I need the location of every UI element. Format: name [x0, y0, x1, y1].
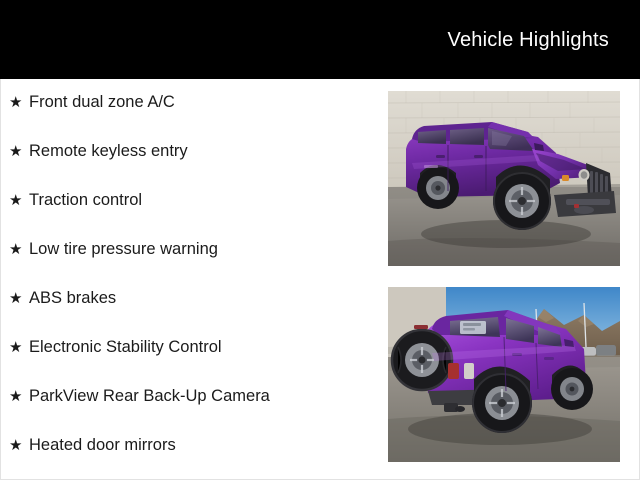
vehicle-photo-front-three-quarter[interactable]: [388, 91, 620, 266]
vehicle-highlights-page: Vehicle Highlights ★ Front dual zone A/C…: [0, 0, 640, 480]
feature-label: Front dual zone A/C: [29, 91, 175, 113]
feature-label: ABS brakes: [29, 287, 116, 309]
feature-label: Electronic Stability Control: [29, 336, 222, 358]
star-icon: ★: [9, 337, 29, 359]
star-icon: ★: [9, 190, 29, 212]
list-item: ★ Heated door mirrors: [9, 434, 369, 483]
feature-list: ★ Front dual zone A/C ★ Remote keyless e…: [9, 91, 369, 483]
star-icon: ★: [9, 92, 29, 114]
vehicle-photo-rear-three-quarter[interactable]: [388, 287, 620, 462]
list-item: ★ Traction control: [9, 189, 369, 238]
vehicle-photo-front-illustration: [388, 91, 620, 266]
feature-label: Heated door mirrors: [29, 434, 176, 456]
content-panel: ★ Front dual zone A/C ★ Remote keyless e…: [0, 79, 640, 480]
star-icon: ★: [9, 386, 29, 408]
page-header: Vehicle Highlights: [0, 0, 640, 79]
feature-label: Low tire pressure warning: [29, 238, 218, 260]
star-icon: ★: [9, 288, 29, 310]
feature-label: Remote keyless entry: [29, 140, 188, 162]
page-title: Vehicle Highlights: [448, 28, 609, 52]
list-item: ★ Front dual zone A/C: [9, 91, 369, 140]
list-item: ★ Remote keyless entry: [9, 140, 369, 189]
vehicle-photo-rear-illustration: [388, 287, 620, 462]
star-icon: ★: [9, 435, 29, 457]
list-item: ★ Electronic Stability Control: [9, 336, 369, 385]
feature-label: ParkView Rear Back-Up Camera: [29, 385, 270, 407]
star-icon: ★: [9, 141, 29, 163]
list-item: ★ Low tire pressure warning: [9, 238, 369, 287]
list-item: ★ ParkView Rear Back-Up Camera: [9, 385, 369, 434]
feature-label: Traction control: [29, 189, 142, 211]
star-icon: ★: [9, 239, 29, 261]
list-item: ★ ABS brakes: [9, 287, 369, 336]
